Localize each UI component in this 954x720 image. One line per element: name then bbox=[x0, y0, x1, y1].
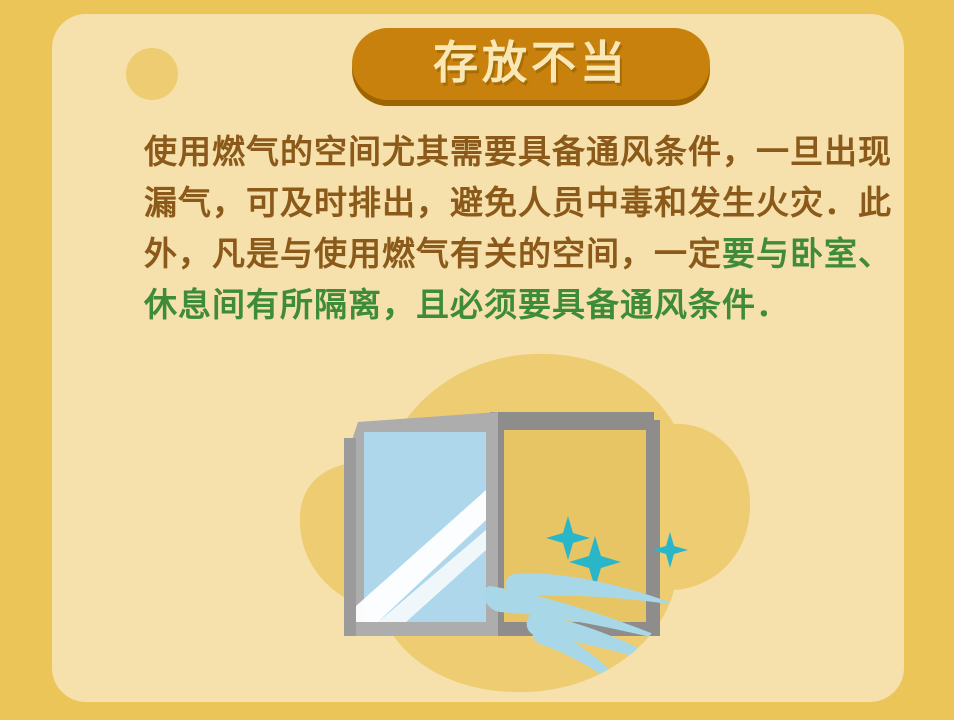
content-card: 存放不当 使用燃气的空间尤其需要具备通风条件，一旦出现漏气，可及时排出，避免人员… bbox=[52, 14, 904, 702]
poster-canvas: 存放不当 使用燃气的空间尤其需要具备通风条件，一旦出现漏气，可及时排出，避免人员… bbox=[0, 0, 954, 720]
title-pill: 存放不当 bbox=[352, 28, 710, 100]
illustration-open-window bbox=[282, 344, 762, 704]
window-left-glass-pane bbox=[344, 412, 498, 636]
body-paragraph: 使用燃气的空间尤其需要具备通风条件，一旦出现漏气，可及时排出，避免人员中毒和发生… bbox=[144, 126, 916, 330]
page-title: 存放不当 bbox=[433, 40, 629, 88]
decorative-punch-hole bbox=[126, 48, 178, 100]
